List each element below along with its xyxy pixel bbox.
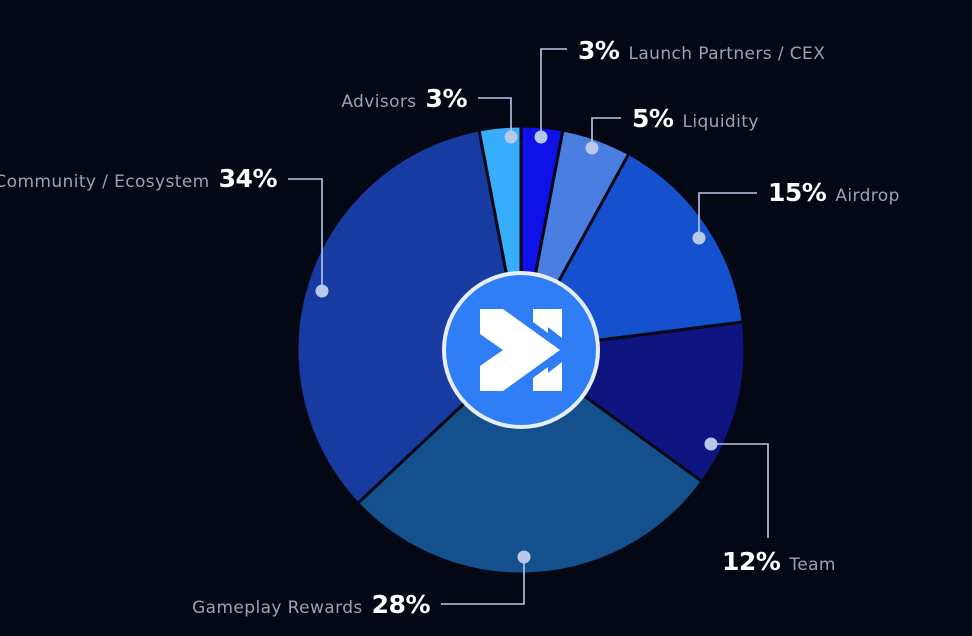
callout-percent-launch-partners-cex: 3%: [578, 38, 619, 63]
leader-dot-team: [705, 438, 718, 451]
callout-label-team: Team: [789, 557, 836, 574]
callout-percent-gameplay-rewards: 28%: [372, 592, 430, 617]
callout-community-ecosystem[interactable]: Community / Ecosystem 34%: [0, 166, 277, 191]
callout-percent-team: 12%: [722, 549, 780, 574]
leader-dot-liquidity: [586, 142, 599, 155]
leader-dot-launch-partners-cex: [535, 131, 548, 144]
center-logo: [444, 273, 598, 427]
callout-label-community-ecosystem: Community / Ecosystem: [0, 174, 210, 191]
callout-gameplay-rewards[interactable]: Gameplay Rewards 28%: [192, 592, 430, 617]
leader-line-team: [711, 444, 768, 538]
callout-label-launch-partners-cex: Launch Partners / CEX: [628, 46, 825, 63]
callout-label-gameplay-rewards: Gameplay Rewards: [192, 600, 363, 617]
leader-dot-airdrop: [693, 232, 706, 245]
callout-advisors[interactable]: Advisors 3%: [341, 86, 467, 111]
callout-liquidity[interactable]: 5% Liquidity: [632, 106, 759, 131]
callout-launch-partners-cex[interactable]: 3% Launch Partners / CEX: [578, 38, 825, 63]
callout-percent-community-ecosystem: 34%: [219, 166, 277, 191]
callout-percent-advisors: 3%: [426, 86, 467, 111]
callout-airdrop[interactable]: 15% Airdrop: [768, 180, 900, 205]
pie-chart-svg: [0, 0, 972, 636]
callout-label-liquidity: Liquidity: [682, 114, 758, 131]
leader-line-launch-partners-cex: [541, 49, 567, 137]
callout-percent-liquidity: 5%: [632, 106, 673, 131]
callout-label-airdrop: Airdrop: [835, 188, 899, 205]
leader-dot-gameplay-rewards: [518, 551, 531, 564]
callout-label-advisors: Advisors: [341, 94, 416, 111]
leader-dot-advisors: [505, 131, 518, 144]
callout-percent-airdrop: 15%: [768, 180, 826, 205]
callout-team[interactable]: 12% Team: [722, 549, 836, 574]
leader-dot-community-ecosystem: [316, 285, 329, 298]
tokenomics-pie-chart: 3% Launch Partners / CEX 5% Liquidity 15…: [0, 0, 972, 636]
